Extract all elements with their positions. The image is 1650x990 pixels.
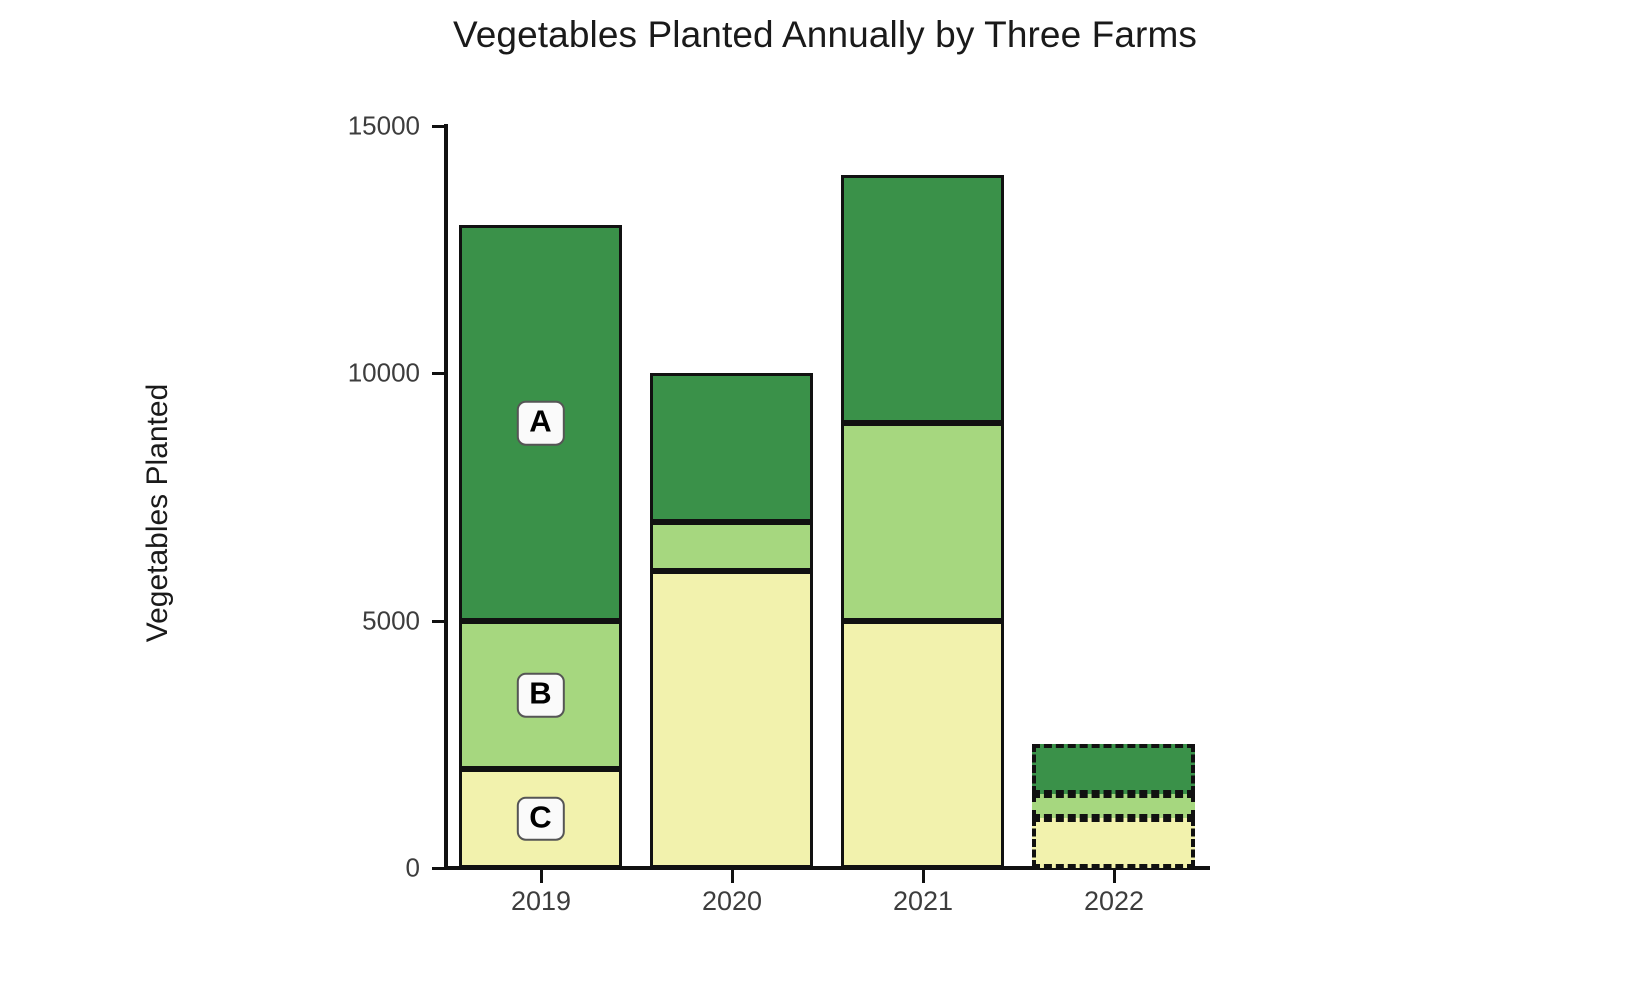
y-tick-label-10000: 10000	[240, 358, 420, 389]
y-tick-label-15000: 15000	[240, 111, 420, 142]
x-tick-label-2019: 2019	[461, 886, 621, 917]
bar-segment-2022-C[interactable]	[1032, 818, 1195, 868]
bar-segment-2021-C[interactable]	[841, 621, 1004, 868]
x-tick-label-2022: 2022	[1034, 886, 1194, 917]
series-label-c: C	[516, 796, 564, 841]
bar-segment-2020-B[interactable]	[650, 522, 813, 571]
bar-segment-2019-B[interactable]: B	[459, 621, 622, 769]
bar-segment-2020-C[interactable]	[650, 571, 813, 868]
x-tick-mark-2019	[540, 870, 543, 883]
chart-title: Vegetables Planted Annually by Three Far…	[0, 14, 1650, 56]
bar-segment-2022-A[interactable]	[1032, 744, 1195, 794]
y-axis-label: Vegetables Planted	[141, 303, 175, 723]
series-label-a: A	[516, 401, 564, 446]
plot-area: C B A	[446, 126, 1210, 868]
x-tick-mark-2022	[1113, 870, 1116, 883]
y-tick-label-5000: 5000	[240, 606, 420, 637]
bar-segment-2022-B[interactable]	[1032, 794, 1195, 818]
x-tick-mark-2020	[731, 870, 734, 883]
y-tick-mark-0	[432, 867, 444, 870]
series-label-b: B	[516, 673, 564, 718]
bar-segment-2019-C[interactable]: C	[459, 769, 622, 868]
y-tick-mark-5000	[432, 620, 444, 623]
bar-segment-2021-B[interactable]	[841, 423, 1004, 621]
y-tick-label-0: 0	[240, 853, 420, 884]
y-tick-mark-10000	[432, 372, 444, 375]
bar-segment-2020-A[interactable]	[650, 373, 813, 522]
bar-segment-2019-A[interactable]: A	[459, 225, 622, 621]
chart-canvas: Vegetables Planted Annually by Three Far…	[0, 0, 1650, 990]
x-tick-mark-2021	[922, 870, 925, 883]
x-tick-label-2021: 2021	[843, 886, 1003, 917]
bar-segment-2021-A[interactable]	[841, 175, 1004, 423]
y-tick-mark-15000	[432, 125, 444, 128]
x-tick-label-2020: 2020	[652, 886, 812, 917]
